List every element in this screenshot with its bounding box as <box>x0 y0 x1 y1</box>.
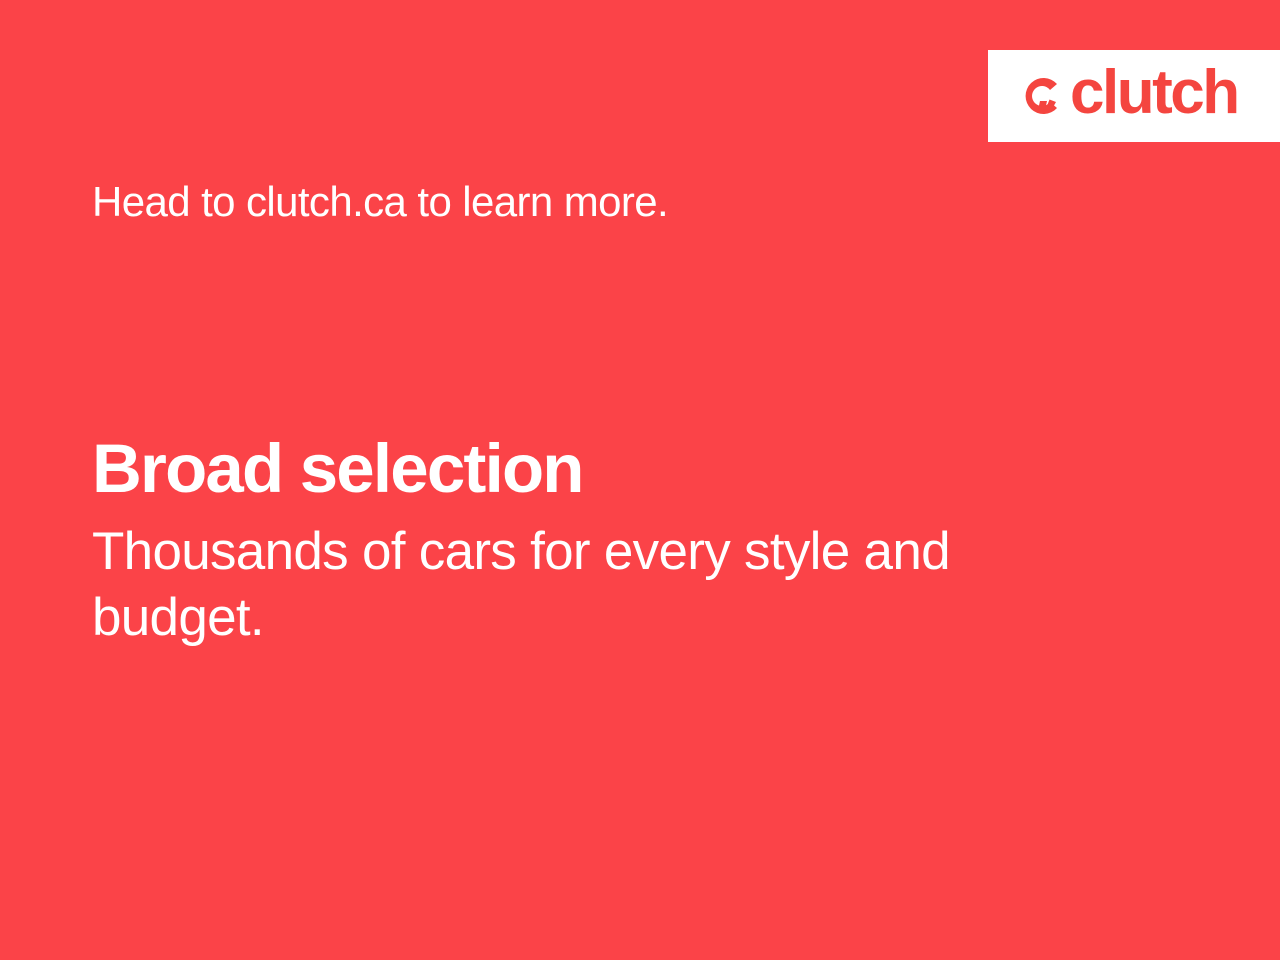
headline-block: Broad selection Thousands of cars for ev… <box>92 434 1052 650</box>
clutch-wordmark: clutch <box>1070 62 1238 124</box>
eyebrow-text: Head to clutch.ca to learn more. <box>92 178 668 226</box>
headline-title: Broad selection <box>92 434 1052 503</box>
clutch-c-mark-icon <box>1018 71 1068 121</box>
promo-slide: clutch Head to clutch.ca to learn more. … <box>0 0 1280 960</box>
clutch-logo-lockup[interactable]: clutch <box>1018 65 1238 127</box>
headline-subtitle: Thousands of cars for every style and bu… <box>92 519 1022 650</box>
brand-logo-plate[interactable]: clutch <box>988 50 1280 142</box>
